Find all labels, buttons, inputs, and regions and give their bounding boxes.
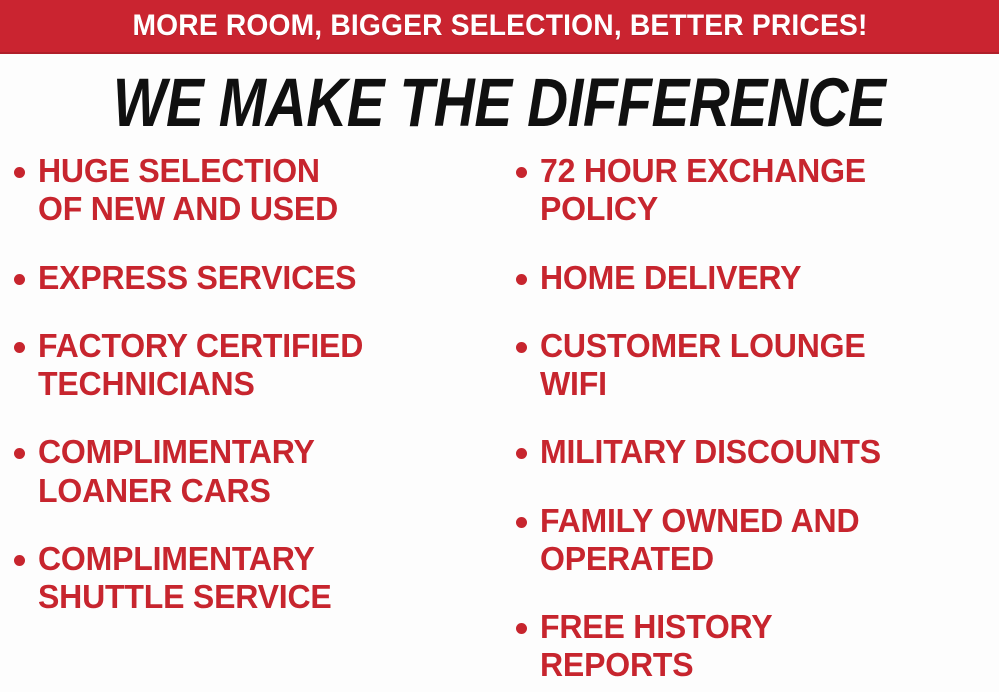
features-columns: HUGE SELECTION OF NEW AND USED EXPRESS S… (0, 152, 999, 692)
list-item: CUSTOMER LOUNGE WIFI (516, 327, 997, 404)
bullet-dot-icon (516, 517, 527, 528)
list-item: FACTORY CERTIFIED TECHNICIANS (14, 327, 496, 404)
promo-strip: MORE ROOM, BIGGER SELECTION, BETTER PRIC… (0, 0, 999, 54)
bullet-dot-icon (14, 448, 25, 459)
list-item: HUGE SELECTION OF NEW AND USED (14, 152, 496, 229)
list-item: EXPRESS SERVICES (14, 259, 496, 297)
promo-strip-text: MORE ROOM, BIGGER SELECTION, BETTER PRIC… (132, 11, 867, 41)
bullet-dot-icon (14, 167, 25, 178)
bullet-dot-icon (516, 448, 527, 459)
features-column-right: 72 HOUR EXCHANGE POLICY HOME DELIVERY CU… (500, 152, 999, 692)
advertisement-banner: MORE ROOM, BIGGER SELECTION, BETTER PRIC… (0, 0, 999, 692)
list-item: FREE HISTORY REPORTS (516, 608, 997, 685)
list-item-label: MILITARY DISCOUNTS (540, 433, 881, 471)
bullet-dot-icon (516, 342, 527, 353)
list-item-label: COMPLIMENTARY SHUTTLE SERVICE (38, 540, 332, 617)
list-item-label: FAMILY OWNED AND OPERATED (540, 502, 859, 579)
headline-container: WE MAKE THE DIFFERENCE (0, 60, 999, 144)
bullet-dot-icon (14, 342, 25, 353)
list-item-label: CUSTOMER LOUNGE WIFI (540, 327, 866, 404)
bullet-dot-icon (14, 274, 25, 285)
list-item-label: COMPLIMENTARY LOANER CARS (38, 433, 315, 510)
bullet-dot-icon (516, 167, 527, 178)
bullet-dot-icon (14, 555, 25, 566)
list-item-label: HOME DELIVERY (540, 259, 801, 297)
list-item-label: EXPRESS SERVICES (38, 259, 356, 297)
list-item-label: 72 HOUR EXCHANGE POLICY (540, 152, 866, 229)
list-item: FAMILY OWNED AND OPERATED (516, 502, 997, 579)
bullet-dot-icon (516, 623, 527, 634)
list-item-label: FREE HISTORY REPORTS (540, 608, 772, 685)
list-item: COMPLIMENTARY SHUTTLE SERVICE (14, 540, 496, 617)
list-item-label: HUGE SELECTION OF NEW AND USED (38, 152, 338, 229)
list-item: MILITARY DISCOUNTS (516, 433, 997, 471)
list-item-label: FACTORY CERTIFIED TECHNICIANS (38, 327, 363, 404)
list-item: HOME DELIVERY (516, 259, 997, 297)
bullet-dot-icon (516, 274, 527, 285)
list-item: COMPLIMENTARY LOANER CARS (14, 433, 496, 510)
features-column-left: HUGE SELECTION OF NEW AND USED EXPRESS S… (0, 152, 500, 646)
page-title: WE MAKE THE DIFFERENCE (113, 68, 886, 137)
list-item: 72 HOUR EXCHANGE POLICY (516, 152, 997, 229)
